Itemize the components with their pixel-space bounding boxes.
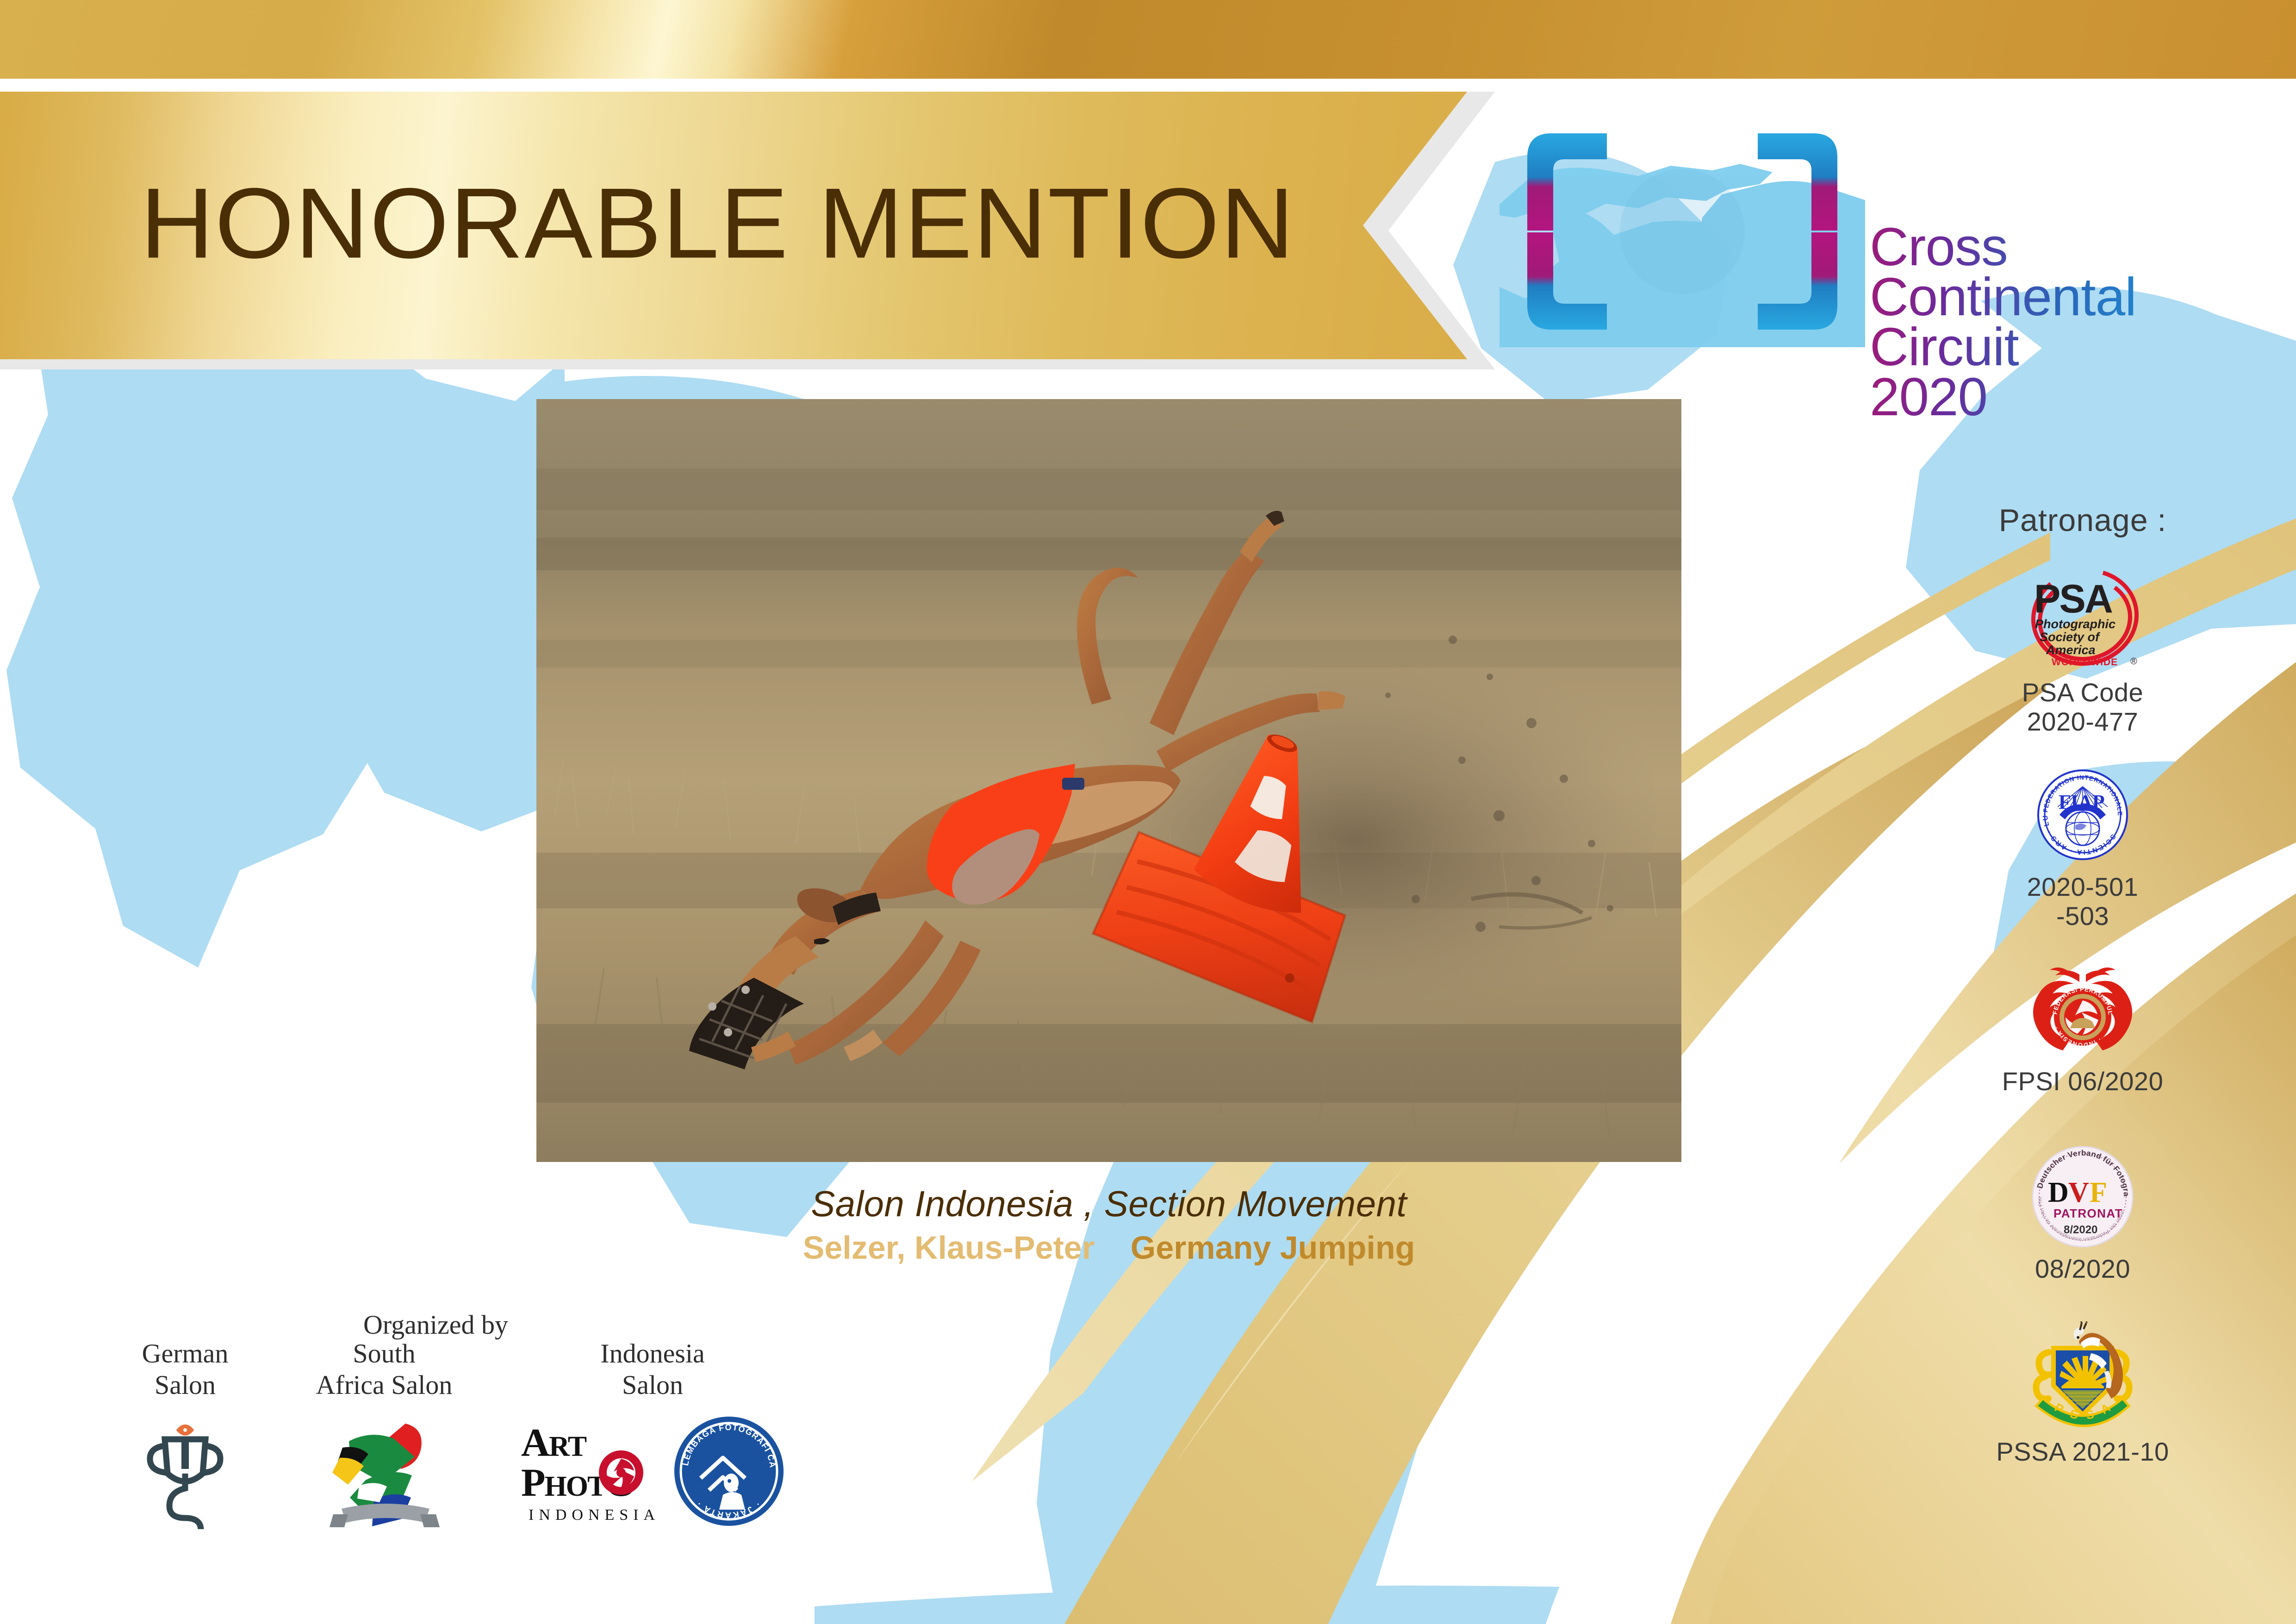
pssa-photographic-society-of-south-africa-crest: P·S·S·A: [1953, 1317, 2212, 1433]
patronage-caption-fiap: 2020-501 -503: [1953, 873, 2212, 931]
indonesia-salon-logos: ART PHOTO INDONESIA: [509, 1413, 796, 1531]
brand-wordmark: Cross Continental Circuit 2020: [1870, 222, 2286, 422]
certificate-page: HONORABLE MENTION: [0, 0, 2296, 1624]
art-photo-indonesia-logo: ART PHOTO INDONESIA: [518, 1413, 657, 1531]
award-title: HONORABLE MENTION: [140, 166, 1295, 281]
fpsi-federasi-perkumpulan-seni-foto-indonesia-logo: FEDERASI PERKUMPULAN SENI FOTO · INDONES…: [1953, 965, 2212, 1062]
award-banner: HONORABLE MENTION: [0, 92, 1495, 369]
brand-line-2: Continental: [1870, 272, 2286, 322]
organizer-south-africa-salon: SouthAfrica Salon: [287, 1338, 481, 1529]
svg-text:ART: ART: [521, 1420, 587, 1465]
organizer-german-salon: GermanSalon: [111, 1338, 259, 1529]
cross-continental-circuit-logo: Cross Continental Circuit 2020: [1500, 106, 1870, 347]
photo-caption-author-title: Selzer, Klaus-Peter Germany Jumping: [536, 1229, 1681, 1266]
caption-country-title: Germany Jumping: [1131, 1230, 1415, 1266]
organized-by-heading: Organized by: [363, 1309, 508, 1340]
svg-text:America: America: [2046, 643, 2096, 657]
german-salon-trophy-logo: [111, 1413, 259, 1529]
svg-text:Society of: Society of: [2040, 630, 2101, 644]
patronage-item-psa: PSA Photographic Society of America WORL…: [1953, 562, 2212, 736]
fiap-federation-internationale-de-lart-photographique-seal: FEDERATION INTERNATIONALE DE L'ART PHOTO…: [1953, 766, 2212, 868]
award-banner-gold: HONORABLE MENTION: [0, 92, 1467, 359]
brand-line-4: 2020: [1870, 372, 2286, 422]
south-africa-salon-flag-shield-logo: [287, 1413, 481, 1529]
svg-text:PSA: PSA: [2034, 577, 2112, 621]
patronage-item-fiap: FEDERATION INTERNATIONALE DE L'ART PHOTO…: [1953, 766, 2212, 931]
organizer-label-indonesia: IndonesiaSalon: [509, 1338, 796, 1401]
patronage-caption-pssa: PSSA 2021-10: [1953, 1437, 2212, 1467]
svg-text:8/2020: 8/2020: [2064, 1224, 2097, 1236]
patronage-heading: Patronage :: [1944, 502, 2221, 538]
brand-line-1: Cross: [1870, 222, 2286, 272]
svg-text:INDONESIA: INDONESIA: [529, 1506, 657, 1524]
svg-text:PATRONAT: PATRONAT: [2053, 1206, 2123, 1220]
svg-text:D: D: [2048, 1177, 2069, 1208]
svg-text:®: ®: [2130, 656, 2137, 667]
patronage-caption-fpsi: FPSI 06/2020: [1953, 1067, 2212, 1096]
photo-caption-salon: Salon Indonesia , Section Movement: [536, 1183, 1681, 1225]
psa-photographic-society-of-america-logo: PSA Photographic Society of America WORL…: [1953, 562, 2212, 674]
organizer-label-south-africa: SouthAfrica Salon: [287, 1338, 481, 1401]
organizer-label-german: GermanSalon: [111, 1338, 259, 1401]
svg-text:V: V: [2068, 1177, 2089, 1208]
patronage-caption-dvf: 08/2020: [1953, 1255, 2212, 1284]
brand-line-3: Circuit: [1870, 322, 2286, 372]
award-photograph: [536, 399, 1681, 1162]
svg-text:WORLDWIDE: WORLDWIDE: [2052, 657, 2118, 668]
patronage-caption-psa: PSA Code 2020-477: [1953, 678, 2212, 736]
top-gold-bar: [0, 0, 2296, 79]
svg-text:Photographic: Photographic: [2035, 617, 2116, 631]
patronage-item-pssa: P·S·S·A PSSA 2021-10: [1953, 1317, 2212, 1467]
lembaga-fotografi-candra-naya-jakarta-logo: LEMBAGA FOTOGRAFI CANDRA NAYA · JAKARTA …: [671, 1413, 787, 1531]
patronage-item-dvf: Deutscher Verband für Fotografie e.V. un…: [1953, 1143, 2212, 1284]
dvf-patronat-seal: Deutscher Verband für Fotografie e.V. un…: [1953, 1143, 2212, 1250]
patronage-item-fpsi: FEDERASI PERKUMPULAN SENI FOTO · INDONES…: [1953, 965, 2212, 1096]
caption-author-name: Selzer, Klaus-Peter: [803, 1230, 1095, 1266]
organizer-indonesia-salon: IndonesiaSalon ART PHOTO: [509, 1338, 796, 1531]
svg-text:F: F: [2090, 1177, 2107, 1208]
